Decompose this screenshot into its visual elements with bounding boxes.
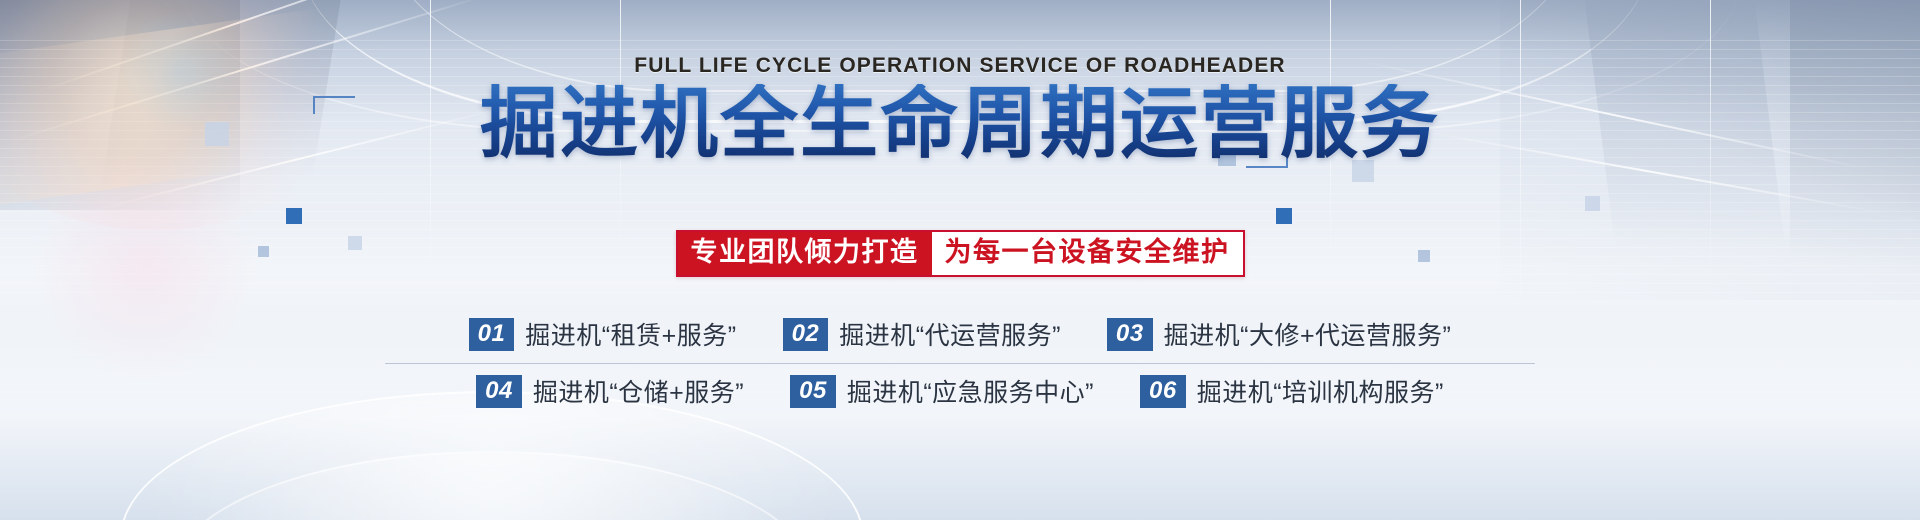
service-label: 掘进机“代运营服务”	[839, 316, 1061, 352]
service-label: 掘进机“培训机构服务”	[1197, 373, 1444, 409]
service-list: 01 掘进机“租赁+服务” 02 掘进机“代运营服务” 03 掘进机“大修+代运…	[380, 307, 1540, 420]
banner-eyebrow: FULL LIFE CYCLE OPERATION SERVICE OF ROA…	[634, 54, 1285, 78]
service-label: 掘进机“租赁+服务”	[525, 316, 736, 352]
promo-banner: FULL LIFE CYCLE OPERATION SERVICE OF ROA…	[0, 0, 1920, 520]
service-number-badge: 05	[790, 375, 836, 408]
service-label: 掘进机“大修+代运营服务”	[1164, 316, 1452, 352]
service-item-06[interactable]: 06 掘进机“培训机构服务”	[1140, 373, 1444, 409]
service-number-badge: 04	[476, 375, 522, 408]
tagline-primary: 专业团队倾力打造	[678, 232, 932, 275]
service-label: 掘进机“仓储+服务”	[533, 373, 744, 409]
service-item-03[interactable]: 03 掘进机“大修+代运营服务”	[1107, 316, 1451, 352]
service-item-04[interactable]: 04 掘进机“仓储+服务”	[476, 373, 744, 409]
service-item-01[interactable]: 01 掘进机“租赁+服务”	[469, 316, 737, 352]
service-row-top: 01 掘进机“租赁+服务” 02 掘进机“代运营服务” 03 掘进机“大修+代运…	[385, 307, 1535, 364]
service-item-05[interactable]: 05 掘进机“应急服务中心”	[790, 373, 1094, 409]
service-row-bottom: 04 掘进机“仓储+服务” 05 掘进机“应急服务中心” 06 掘进机“培训机构…	[476, 364, 1444, 420]
service-number-badge: 02	[783, 318, 829, 351]
service-item-02[interactable]: 02 掘进机“代运营服务”	[783, 316, 1061, 352]
service-label: 掘进机“应急服务中心”	[847, 373, 1094, 409]
service-number-badge: 03	[1107, 318, 1153, 351]
tagline-secondary: 为每一台设备安全维护	[932, 232, 1243, 275]
tagline-bar: 专业团队倾力打造 为每一台设备安全维护	[676, 230, 1245, 277]
banner-content: FULL LIFE CYCLE OPERATION SERVICE OF ROA…	[0, 0, 1920, 520]
service-number-badge: 06	[1140, 375, 1186, 408]
service-number-badge: 01	[469, 318, 515, 351]
banner-headline: 掘进机全生命周期运营服务	[480, 84, 1440, 162]
